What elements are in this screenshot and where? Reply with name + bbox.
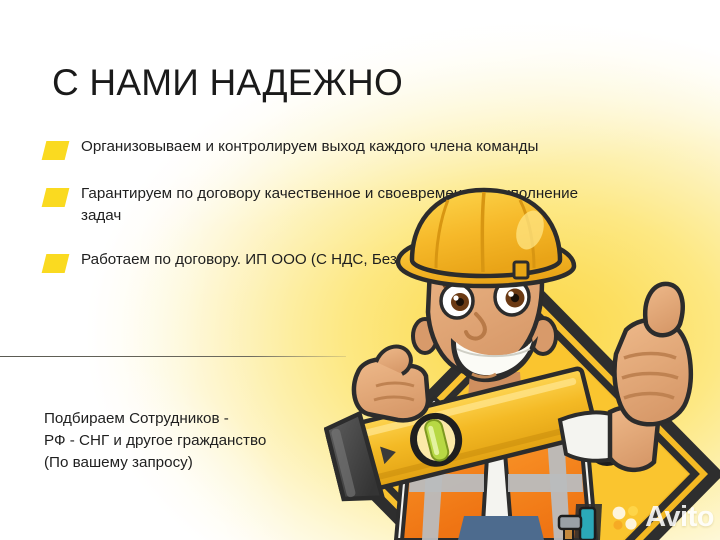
avito-watermark-label: Avito: [645, 503, 714, 532]
footer-note-line: Подбираем Сотрудников -: [44, 408, 266, 430]
left-hand-grip: [354, 347, 428, 421]
footer-note-line: (По вашему запросу): [44, 452, 266, 474]
list-item: Организовываем и контролируем выход кажд…: [44, 136, 604, 160]
divider: [0, 356, 346, 357]
page-title: С НАМИ НАДЕЖНО: [52, 62, 403, 104]
list-item-label: Организовываем и контролируем выход кажд…: [81, 136, 538, 158]
construction-worker-illustration: [324, 186, 720, 540]
yellow-hard-hat: [398, 190, 574, 286]
yellow-parallelogram-bullet-icon: [42, 188, 70, 207]
yellow-parallelogram-bullet-icon: [42, 141, 70, 160]
footer-note: Подбираем Сотрудников - РФ - СНГ и друго…: [44, 408, 266, 474]
yellow-parallelogram-bullet-icon: [42, 254, 70, 273]
footer-note-line: РФ - СНГ и другое гражданство: [44, 430, 266, 452]
avito-watermark: Avito: [611, 503, 714, 532]
advertisement-banner: С НАМИ НАДЕЖНО Организовываем и контроли…: [0, 0, 720, 540]
avito-dots-logo-icon: [611, 505, 641, 531]
